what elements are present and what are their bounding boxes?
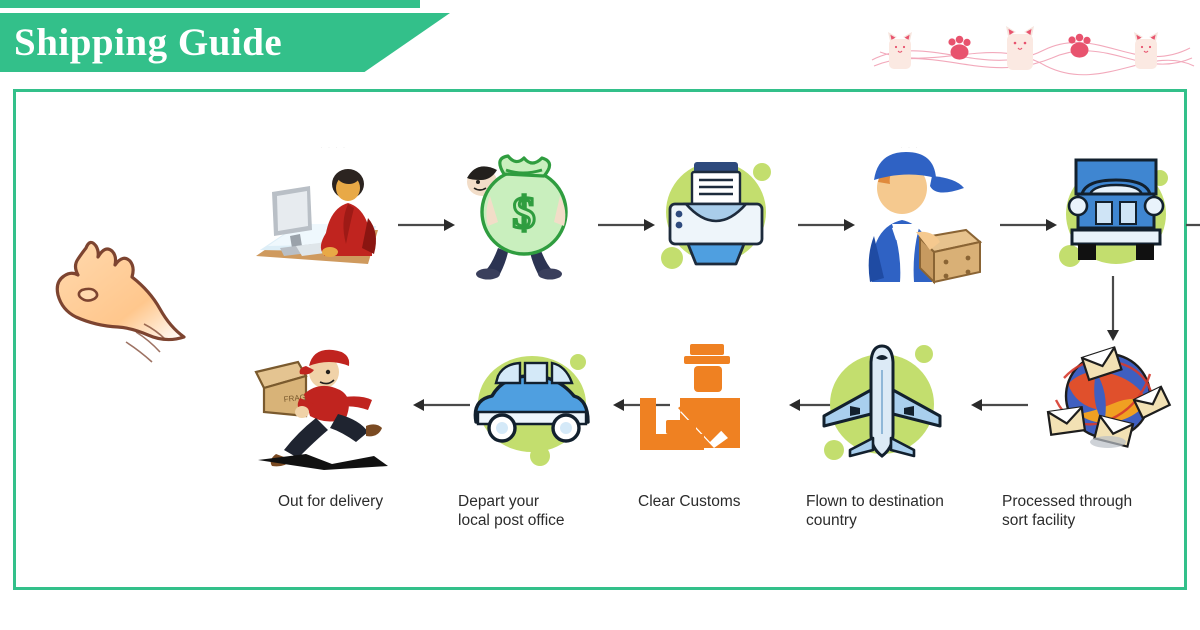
flow-node-flown-destination[interactable] (812, 334, 952, 474)
flow-node-sort-facility[interactable] (1038, 338, 1178, 468)
flow-node-label-printed[interactable] (652, 150, 782, 280)
flow-node-clear-customs[interactable] (636, 342, 766, 467)
cat-paw-hand-illustration (40, 232, 200, 377)
caption-local-post-office: Depart your local post office (458, 492, 618, 530)
flow-node-order-placed[interactable] (250, 160, 385, 285)
flow-node-out-for-delivery[interactable]: FRAGILE (254, 342, 404, 472)
banner-top-strip (0, 0, 420, 8)
flow-arrow-left (970, 398, 1028, 417)
flow-node-picked-up-by-truck[interactable] (1052, 152, 1182, 282)
flow-arrow-right (1000, 218, 1058, 237)
caption-clear-customs: Clear Customs (638, 492, 788, 511)
svg-text:$: $ (513, 187, 536, 238)
flow-arrow-down (1106, 276, 1120, 347)
flow-arrow-right (398, 218, 456, 237)
flow-node-local-post-office[interactable] (462, 340, 602, 470)
flow-arrow-right (598, 218, 656, 237)
flow-node-payment-received[interactable]: $ (452, 140, 587, 290)
watermark-text: · · · · (320, 142, 347, 152)
shipping-flow-diagram: · · · · · · · · · · (240, 130, 1190, 550)
page-title: Shipping Guide (14, 20, 282, 65)
page-header: Shipping Guide (0, 0, 1200, 85)
cat-paw-border-decoration (866, 14, 1196, 82)
caption-out-for-delivery: Out for delivery (278, 492, 428, 511)
flow-dash-right (1186, 218, 1200, 237)
caption-sort-facility: Processed through sort facility (1002, 492, 1197, 530)
flow-node-packed-by-worker[interactable] (848, 140, 983, 285)
caption-flown-destination: Flown to destination country (806, 492, 996, 530)
